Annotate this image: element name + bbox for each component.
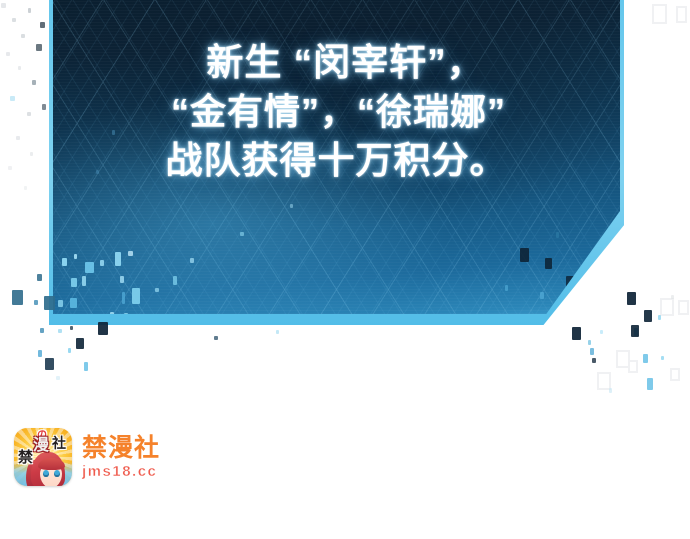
background-particle xyxy=(8,166,12,170)
background-particle xyxy=(24,186,27,190)
panel-particle xyxy=(520,248,529,262)
icon-kanji-man: 漫 xyxy=(33,438,49,454)
character-bangs xyxy=(38,458,65,470)
background-particle xyxy=(18,66,21,70)
background-particle xyxy=(644,310,652,322)
panel-particle xyxy=(82,276,86,286)
background-particle xyxy=(631,325,639,337)
panel-particle xyxy=(155,288,159,292)
background-particle xyxy=(32,80,36,85)
background-particle xyxy=(38,350,42,357)
background-particle xyxy=(40,328,44,333)
background-particle xyxy=(1,3,6,8)
outline-particle xyxy=(676,6,687,23)
panel-particle xyxy=(110,312,114,314)
background-particle xyxy=(70,326,73,330)
background-particle xyxy=(671,295,674,299)
panel-particle xyxy=(74,254,77,259)
background-particle xyxy=(627,292,636,305)
comic-panel: 新生 “闵宰轩”， “金有情”，“徐瑞娜” 战队获得十万积分。 xyxy=(49,0,624,325)
panel-particle xyxy=(58,300,63,307)
background-particle xyxy=(16,136,20,140)
background-particle xyxy=(44,296,55,310)
watermark-text-block: 禁漫社 jms18.cc xyxy=(82,435,160,480)
panel-particle xyxy=(70,298,77,308)
panel-particle xyxy=(96,170,99,174)
panel-particle xyxy=(173,276,177,285)
background-particle xyxy=(56,376,60,380)
background-particle xyxy=(27,112,31,116)
character-eye-left xyxy=(43,470,49,477)
jinmanshe-app-icon: の 禁 漫 社 xyxy=(14,428,72,486)
panel-particle xyxy=(120,276,124,283)
panel-grid-texture xyxy=(53,0,620,314)
background-particle xyxy=(658,315,661,320)
background-particle xyxy=(58,329,62,333)
background-particle xyxy=(590,348,594,355)
background-particle xyxy=(36,44,42,51)
outline-particle xyxy=(670,368,680,381)
background-particle xyxy=(28,8,31,13)
site-watermark[interactable]: の 禁 漫 社 禁漫社 jms18.cc xyxy=(14,426,244,488)
background-particle xyxy=(609,388,612,393)
panel-scanline-overlay xyxy=(53,0,620,314)
outline-particle xyxy=(678,300,689,315)
panel-particle xyxy=(132,288,140,304)
watermark-title: 禁漫社 xyxy=(82,435,160,462)
background-particle xyxy=(21,34,25,38)
background-particle xyxy=(76,338,84,349)
page-canvas: 新生 “闵宰轩”， “金有情”，“徐瑞娜” 战队获得十万积分。 の 禁 漫 社 … xyxy=(0,0,690,539)
panel-artwork xyxy=(53,0,620,314)
panel-glow-overlay xyxy=(53,0,620,314)
background-particle xyxy=(12,290,23,305)
background-particle xyxy=(10,96,15,101)
panel-particle xyxy=(579,304,583,312)
panel-particle xyxy=(190,258,194,263)
background-particle xyxy=(68,348,71,353)
background-particle xyxy=(40,22,45,28)
background-particle xyxy=(84,362,88,371)
outline-particle xyxy=(652,4,667,24)
outline-particle xyxy=(660,298,674,316)
background-particle xyxy=(661,356,664,360)
background-particle xyxy=(45,358,54,370)
background-particle xyxy=(37,274,42,281)
background-particle xyxy=(214,336,218,340)
background-particle xyxy=(42,104,46,110)
panel-particle xyxy=(545,258,552,269)
panel-particle xyxy=(290,204,293,208)
panel-particle xyxy=(240,232,244,236)
background-particle xyxy=(30,152,33,156)
background-particle xyxy=(647,378,653,390)
background-particle xyxy=(600,330,603,334)
background-particle xyxy=(12,18,16,22)
panel-particle xyxy=(100,260,104,266)
background-particle xyxy=(34,300,38,305)
icon-kanji-she: 社 xyxy=(52,436,66,450)
watermark-url[interactable]: jms18.cc xyxy=(82,463,160,480)
panel-particle xyxy=(112,130,115,135)
background-particle xyxy=(98,322,108,335)
panel-particle xyxy=(556,232,559,238)
background-particle xyxy=(592,358,596,363)
background-particle xyxy=(276,330,279,334)
outline-particle xyxy=(628,360,638,373)
panel-particle xyxy=(85,262,94,273)
background-particle xyxy=(643,354,648,363)
panel-particle xyxy=(71,278,77,287)
icon-kanji-jin: 禁 xyxy=(18,450,33,465)
background-particle xyxy=(572,327,581,340)
panel-particle xyxy=(505,285,508,291)
panel-particle xyxy=(598,285,602,294)
panel-particle xyxy=(62,258,67,266)
panel-particle xyxy=(122,292,125,304)
panel-particle xyxy=(128,251,133,256)
background-particle xyxy=(6,52,10,56)
panel-particle xyxy=(540,292,544,299)
panel-particle xyxy=(124,313,128,314)
panel-particle xyxy=(115,252,121,266)
background-particle xyxy=(588,340,591,345)
character-eye-right xyxy=(54,470,60,477)
